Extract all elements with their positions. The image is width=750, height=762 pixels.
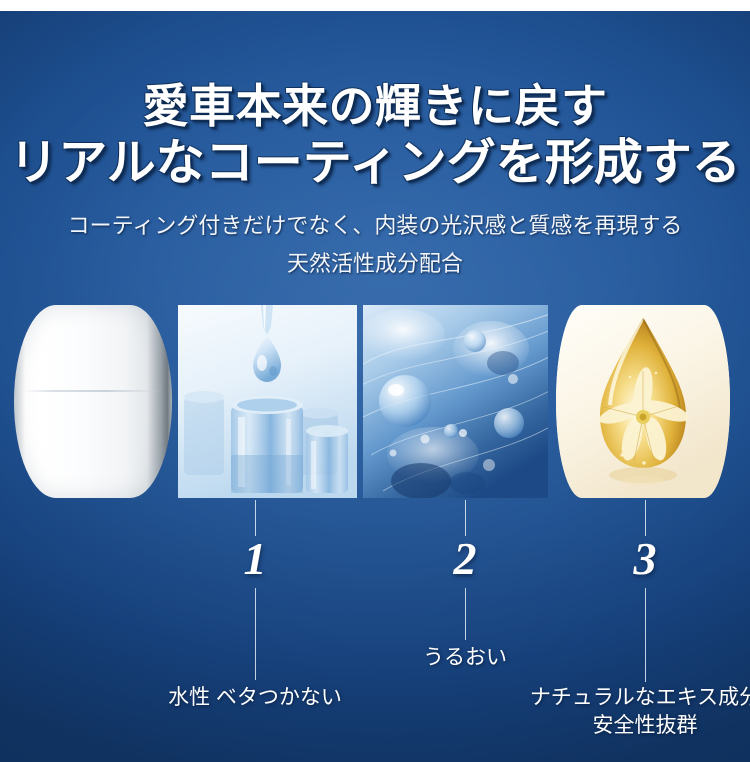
subtitle-line-1: コーティング付きだけでなく、内装の光沢感と質感を再現する: [0, 211, 750, 241]
top-white-strip: [0, 0, 750, 11]
blue-molecular-texture-art: [363, 305, 548, 498]
product-banner: 愛車本来の輝きに戻す リアルなコーティングを形成する コーティング付きだけでなく…: [0, 0, 750, 762]
water-droplet-beakers-art: [178, 305, 357, 498]
panel-molecular-texture: [363, 305, 548, 498]
feature-caption-2-line-1: うるおい: [385, 644, 545, 672]
connector-line-2-bottom: [465, 588, 466, 640]
feature-caption-2: うるおい: [385, 644, 545, 672]
headline-line-2: リアルなコーティングを形成する: [0, 135, 750, 191]
feature-caption-1-line-1: 水性 ベタつかない: [155, 684, 355, 712]
connector-line-1-top: [255, 500, 256, 536]
connector-line-2-top: [465, 500, 466, 536]
feature-caption-3-line-1: ナチュラルなエキス成分: [520, 684, 750, 712]
feature-number-3: 3: [605, 536, 685, 582]
headline-line-1: 愛車本来の輝きに戻す: [0, 80, 750, 132]
connector-line-3-bottom: [645, 588, 646, 682]
feature-number-2: 2: [425, 536, 505, 582]
subtitle-line-2: 天然活性成分配合: [0, 249, 750, 279]
panel-white-cylinder: [14, 305, 172, 498]
feature-caption-3: ナチュラルなエキス成分 安全性抜群: [520, 684, 750, 740]
panel-water-droplet-beakers: [178, 305, 357, 498]
feature-number-1: 1: [215, 536, 295, 582]
feature-caption-1: 水性 ベタつかない: [155, 684, 355, 712]
golden-flower-droplet-art: [556, 305, 730, 498]
connector-line-1-bottom: [255, 588, 256, 680]
panel-golden-flower-droplet: [556, 305, 730, 498]
feature-caption-3-line-2: 安全性抜群: [520, 712, 750, 740]
connector-line-3-top: [645, 500, 646, 536]
